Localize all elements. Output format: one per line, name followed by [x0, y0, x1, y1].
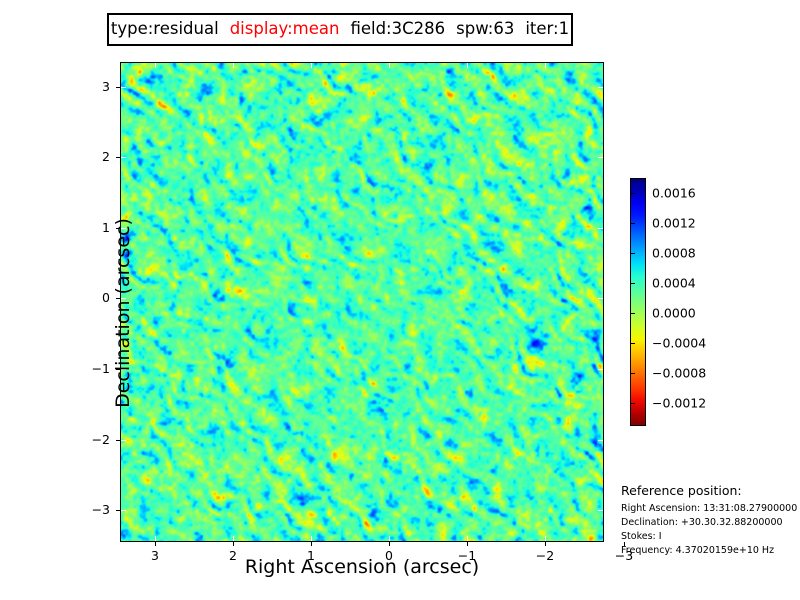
x-tick-inner — [545, 536, 546, 541]
reference-position-line-3: Frequency: 4.37020159e+10 Hz — [621, 544, 800, 558]
colorbar-tick-mark — [630, 403, 635, 404]
x-tick-inner — [467, 536, 468, 541]
x-tick-mark — [233, 542, 234, 546]
x-tick-mark — [311, 542, 312, 546]
colorbar-tick-mark — [630, 343, 635, 344]
title-token-3: spw:63 — [456, 21, 514, 38]
colorbar-tick-mark — [630, 373, 635, 374]
colorbar-tick-label: 0.0000 — [652, 306, 696, 321]
residual-image-axes[interactable] — [120, 62, 604, 542]
colorbar-tick-label: 0.0004 — [652, 276, 696, 291]
reference-position-line-2: Stokes: I — [621, 530, 800, 544]
y-tick-label: 1 — [80, 220, 110, 235]
reference-position-line-1: Declination: +30.30.32.88200000 — [621, 516, 800, 530]
title-token-0: type:residual — [111, 21, 219, 38]
x-tick-inner — [155, 536, 156, 541]
residual-image-canvas[interactable] — [121, 63, 603, 541]
plot-title-box: type:residualdisplay:meanfield:3C286spw:… — [107, 13, 573, 46]
y-tick-inner-right — [598, 228, 603, 229]
y-tick-label: −2 — [80, 432, 110, 447]
colorbar-tick-label: −0.0004 — [652, 336, 706, 351]
x-tick-inner — [389, 536, 390, 541]
y-tick-label: 0 — [80, 290, 110, 305]
x-tick-mark — [545, 542, 546, 546]
colorbar-tick-label: 0.0008 — [652, 246, 696, 261]
colorbar-tick-mark — [630, 313, 635, 314]
y-axis-label: Declination (arcsec) — [112, 73, 134, 553]
x-tick-inner — [311, 536, 312, 541]
x-tick-inner-top — [545, 63, 546, 68]
x-tick-mark — [467, 542, 468, 546]
x-tick-inner — [233, 536, 234, 541]
x-tick-inner-top — [155, 63, 156, 68]
x-tick-inner-top — [624, 63, 625, 68]
title-token-1: display:mean — [230, 21, 340, 38]
reference-position-block: Reference position: Right Ascension: 13:… — [621, 483, 800, 558]
x-tick-inner-top — [311, 63, 312, 68]
colorbar-tick-label: −0.0008 — [652, 366, 706, 381]
y-tick-inner-right — [598, 510, 603, 511]
y-tick-label: 3 — [80, 79, 110, 94]
x-tick-inner-top — [389, 63, 390, 68]
colorbar-tick-mark — [630, 193, 635, 194]
y-tick-inner-right — [598, 298, 603, 299]
colorbar-tick-mark — [630, 283, 635, 284]
colorbar[interactable] — [630, 178, 646, 426]
colorbar-gradient — [630, 178, 646, 426]
reference-position-line-0: Right Ascension: 13:31:08.27900000 — [621, 502, 800, 516]
y-tick-inner-right — [598, 440, 603, 441]
title-token-2: field:3C286 — [350, 21, 445, 38]
y-tick-inner-right — [598, 87, 603, 88]
colorbar-tick-label: −0.0012 — [652, 396, 706, 411]
title-token-4: iter:1 — [525, 21, 569, 38]
colorbar-tick-mark — [630, 223, 635, 224]
colorbar-tick-mark — [630, 253, 635, 254]
y-tick-inner-right — [598, 369, 603, 370]
x-tick-inner-top — [233, 63, 234, 68]
x-axis-label: Right Ascension (arcsec) — [120, 556, 604, 578]
x-tick-mark — [155, 542, 156, 546]
y-tick-label: −1 — [80, 361, 110, 376]
colorbar-tick-label: 0.0016 — [652, 186, 696, 201]
colorbar-tick-label: 0.0012 — [652, 216, 696, 231]
reference-position-heading: Reference position: — [621, 483, 800, 498]
y-tick-inner-right — [598, 157, 603, 158]
reference-position-lines: Right Ascension: 13:31:08.27900000Declin… — [621, 502, 800, 558]
x-tick-mark — [389, 542, 390, 546]
y-tick-label: 2 — [80, 149, 110, 164]
x-tick-inner-top — [467, 63, 468, 68]
y-tick-label: −3 — [80, 502, 110, 517]
